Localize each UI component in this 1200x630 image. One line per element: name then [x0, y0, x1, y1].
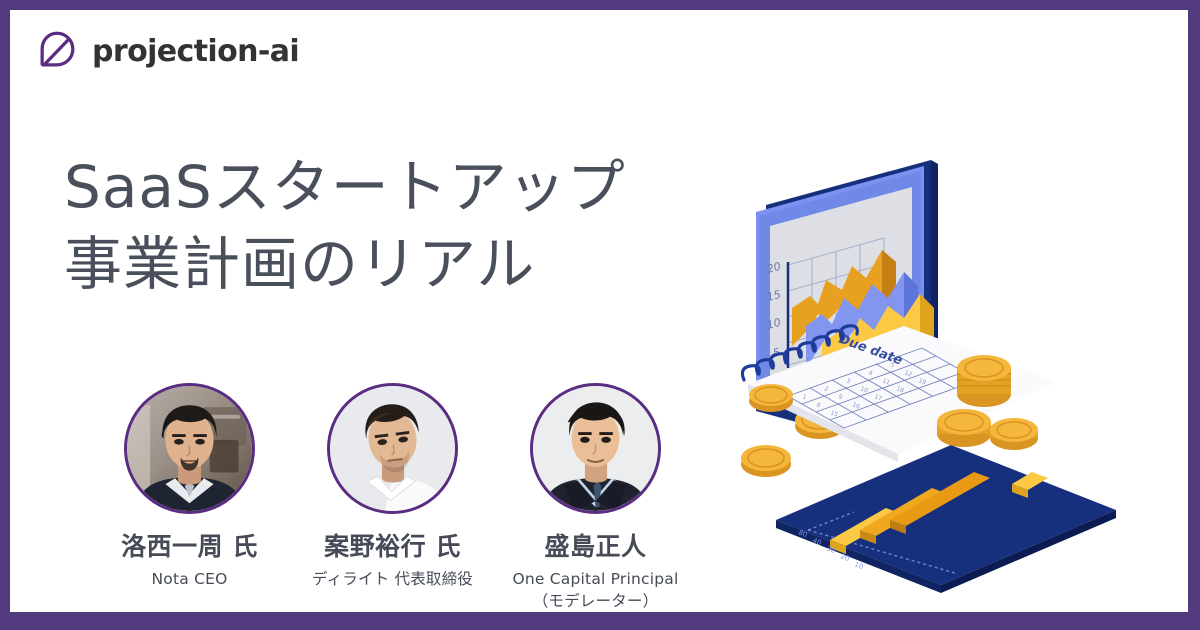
- projection-leaf-icon: [34, 28, 80, 74]
- svg-text:10: 10: [853, 560, 864, 571]
- avatar: [530, 383, 661, 514]
- speaker-card: 盛島正人 One Capital Principal （モデレーター）: [494, 383, 697, 613]
- speaker-role-line-1: Nota CEO: [152, 570, 228, 588]
- poster-canvas: projection-ai SaaSスタートアップ 事業計画のリアル: [10, 10, 1188, 612]
- speaker-role-line-1: One Capital Principal: [512, 570, 678, 588]
- page-title-line-1: SaaSスタートアップ: [64, 149, 724, 226]
- speaker-role-line-2: （モデレーター）: [512, 590, 678, 612]
- page-title-line-2: 事業計画のリアル: [64, 226, 724, 303]
- speaker-role-line-1: ディライト 代表取締役: [312, 570, 473, 588]
- speaker-name: 盛島正人: [544, 527, 646, 563]
- svg-text:30: 30: [825, 544, 836, 555]
- speaker-role: Nota CEO: [152, 568, 228, 590]
- speaker-name: 案野裕行 氏: [324, 527, 461, 563]
- svg-text:20: 20: [839, 552, 850, 563]
- speaker-role: ディライト 代表取締役: [312, 568, 473, 590]
- brand-wordmark: projection-ai: [92, 34, 299, 69]
- page-title: SaaSスタートアップ 事業計画のリアル: [64, 149, 724, 303]
- speaker-role: One Capital Principal （モデレーター）: [512, 568, 678, 613]
- speaker-name: 洛西一周 氏: [121, 527, 258, 563]
- speaker-list: 洛西一周 氏 Nota CEO: [88, 383, 698, 613]
- speaker-card: 案野裕行 氏 ディライト 代表取締役: [291, 383, 494, 590]
- isometric-financial-planning-illustration: 20 15 10 5: [726, 130, 1186, 600]
- speaker-card: 洛西一周 氏 Nota CEO: [88, 383, 291, 590]
- brand-logo[interactable]: projection-ai: [34, 28, 299, 74]
- avatar: [124, 383, 255, 514]
- avatar: [327, 383, 458, 514]
- bar-chart-plate: 80 40 30 20 10: [776, 445, 1116, 593]
